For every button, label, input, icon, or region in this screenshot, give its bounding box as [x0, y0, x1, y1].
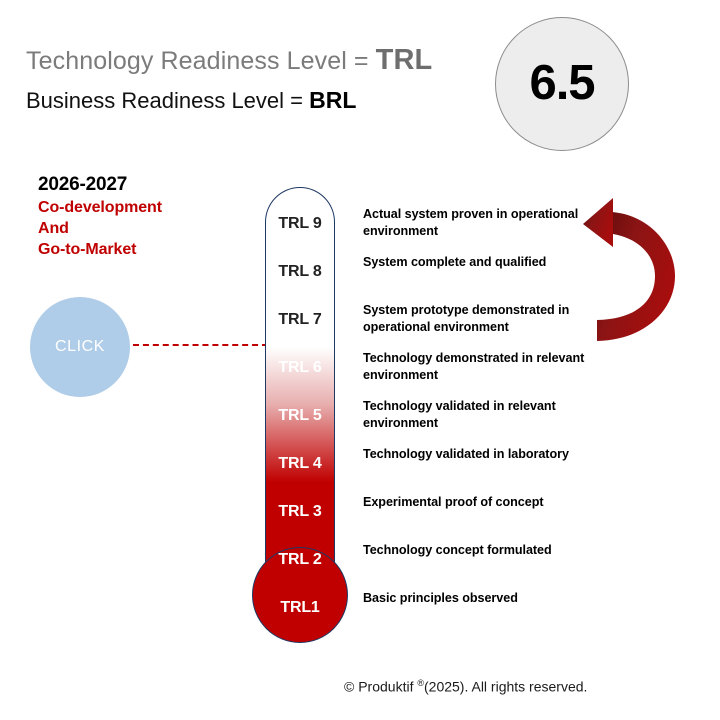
brl-heading-abbr: BRL	[309, 87, 356, 113]
trl-tick-5[interactable]: TRL 5	[265, 407, 335, 425]
trl-heading-text: Technology Readiness Level =	[26, 47, 376, 75]
trl-tick-1[interactable]: TRL1	[265, 599, 335, 617]
phase-block: 2026-2027 Co-development And Go-to-Marke…	[38, 172, 162, 260]
trl-tick-7[interactable]: TRL 7	[265, 311, 335, 329]
brl-heading-text: Business Readiness Level =	[26, 88, 309, 113]
phase-line-3: Go-to-Market	[38, 239, 162, 260]
score-value: 6.5	[529, 55, 594, 111]
click-button[interactable]: CLICK	[30, 297, 130, 397]
copyright-footer: © Produktif ®(2025). All rights reserved…	[344, 678, 587, 695]
trl-tick-3[interactable]: TRL 3	[265, 503, 335, 521]
trl-heading: Technology Readiness Level = TRL	[26, 44, 432, 77]
trl-description-7: System prototype demonstrated in operati…	[363, 302, 595, 335]
curved-cycle-arrow-icon	[583, 198, 678, 348]
score-badge[interactable]: 6.5	[495, 17, 629, 151]
trl-description-3: Experimental proof of concept	[363, 494, 595, 511]
trl-heading-abbr: TRL	[376, 44, 433, 76]
copyright-symbol: ©	[344, 679, 354, 695]
trl-tick-4[interactable]: TRL 4	[265, 455, 335, 473]
trl-description-1: Basic principles observed	[363, 590, 595, 607]
phase-years: 2026-2027	[38, 172, 162, 197]
trl-description-9: Actual system proven in operational envi…	[363, 206, 595, 239]
trl-brl-infographic: Technology Readiness Level = TRL Busines…	[0, 0, 720, 720]
phase-line-1: Co-development	[38, 197, 162, 218]
trl-description-5: Technology validated in relevant environ…	[363, 398, 595, 431]
trl-tick-8[interactable]: TRL 8	[265, 263, 335, 281]
brl-heading: Business Readiness Level = BRL	[26, 87, 356, 114]
trl-description-4: Technology validated in laboratory	[363, 446, 595, 463]
phase-line-2: And	[38, 218, 162, 239]
trl-tick-6[interactable]: TRL 6	[265, 359, 335, 377]
click-button-label: CLICK	[55, 338, 105, 356]
registered-symbol: ®	[417, 678, 424, 688]
trl-description-2: Technology concept formulated	[363, 542, 595, 559]
trl-tick-9[interactable]: TRL 9	[265, 215, 335, 233]
rights-text: (2025). All rights reserved.	[424, 679, 587, 695]
brand-name: Produktif	[354, 679, 417, 695]
trl-description-6: Technology demonstrated in relevant envi…	[363, 350, 595, 383]
thermometer-tube	[265, 187, 335, 607]
trl-tick-2[interactable]: TRL 2	[265, 551, 335, 569]
trl-description-8: System complete and qualified	[363, 254, 595, 271]
trl-thermometer: TRL 9 TRL 8 TRL 7 TRL 6 TRL 5 TRL 4 TRL …	[240, 182, 360, 672]
